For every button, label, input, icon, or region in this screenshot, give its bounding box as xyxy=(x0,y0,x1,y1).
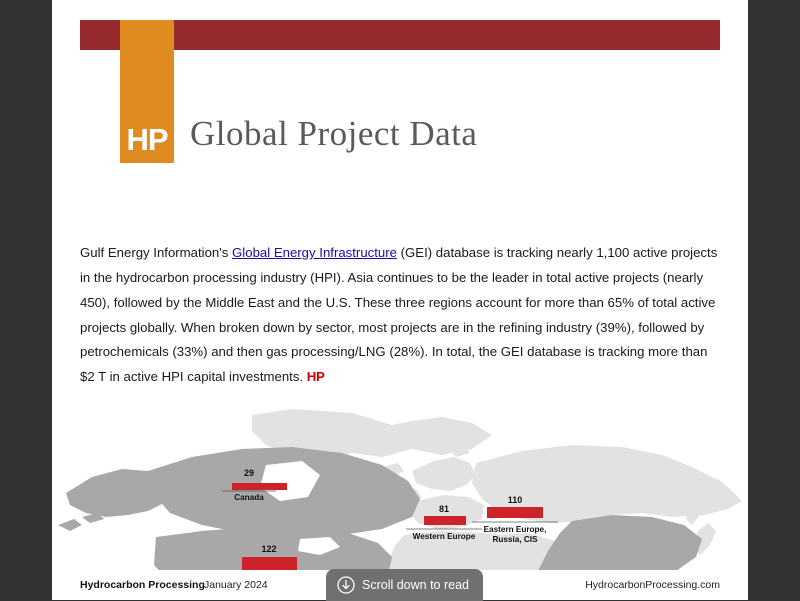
footer-issue-date: January 2024 xyxy=(204,579,268,591)
left-gutter xyxy=(0,0,52,600)
marker-label-eastern-europe: Eastern Europe, xyxy=(484,525,547,534)
footer-website: HydrocarbonProcessing.com xyxy=(585,579,720,591)
scroll-down-prompt[interactable]: Scroll down to read xyxy=(326,569,483,601)
hp-end-mark: HP xyxy=(307,369,325,384)
marker-value-western-europe: 81 xyxy=(439,504,449,514)
hp-logo-mark: HP xyxy=(120,124,174,155)
marker-bar-canada xyxy=(232,483,287,490)
page-title: Global Project Data xyxy=(190,114,477,154)
marker-value-us: 122 xyxy=(261,544,276,554)
article-page: HP Global Project Data Gulf Energy Infor… xyxy=(52,0,748,600)
global-energy-infrastructure-link[interactable]: Global Energy Infrastructure xyxy=(232,245,397,260)
marker-bar-western-europe xyxy=(424,516,466,525)
marker-label-canada: Canada xyxy=(234,493,264,502)
masthead-red-bar xyxy=(80,20,720,50)
article-rest-text: (GEI) database is tracking nearly 1,100 … xyxy=(80,245,717,384)
article-lead-text: Gulf Energy Information's xyxy=(80,245,232,260)
scroll-down-icon xyxy=(337,576,355,594)
scroll-down-label: Scroll down to read xyxy=(362,578,469,592)
footer-publication: Hydrocarbon Processing xyxy=(80,579,205,591)
marker-value-eastern-europe: 110 xyxy=(508,495,523,505)
marker-label-western-europe: Western Europe xyxy=(413,532,476,541)
marker-label2-eastern-europe: Russia, CIS xyxy=(492,535,538,544)
masthead: HP Global Project Data xyxy=(52,0,748,200)
right-gutter xyxy=(748,0,800,600)
marker-bar-eastern-europe xyxy=(487,507,543,518)
article-paragraph: Gulf Energy Information's Global Energy … xyxy=(80,241,722,390)
marker-value-canada: 29 xyxy=(244,468,254,478)
marker-bar-us xyxy=(242,557,297,570)
masthead-logo-block: HP xyxy=(120,20,174,163)
